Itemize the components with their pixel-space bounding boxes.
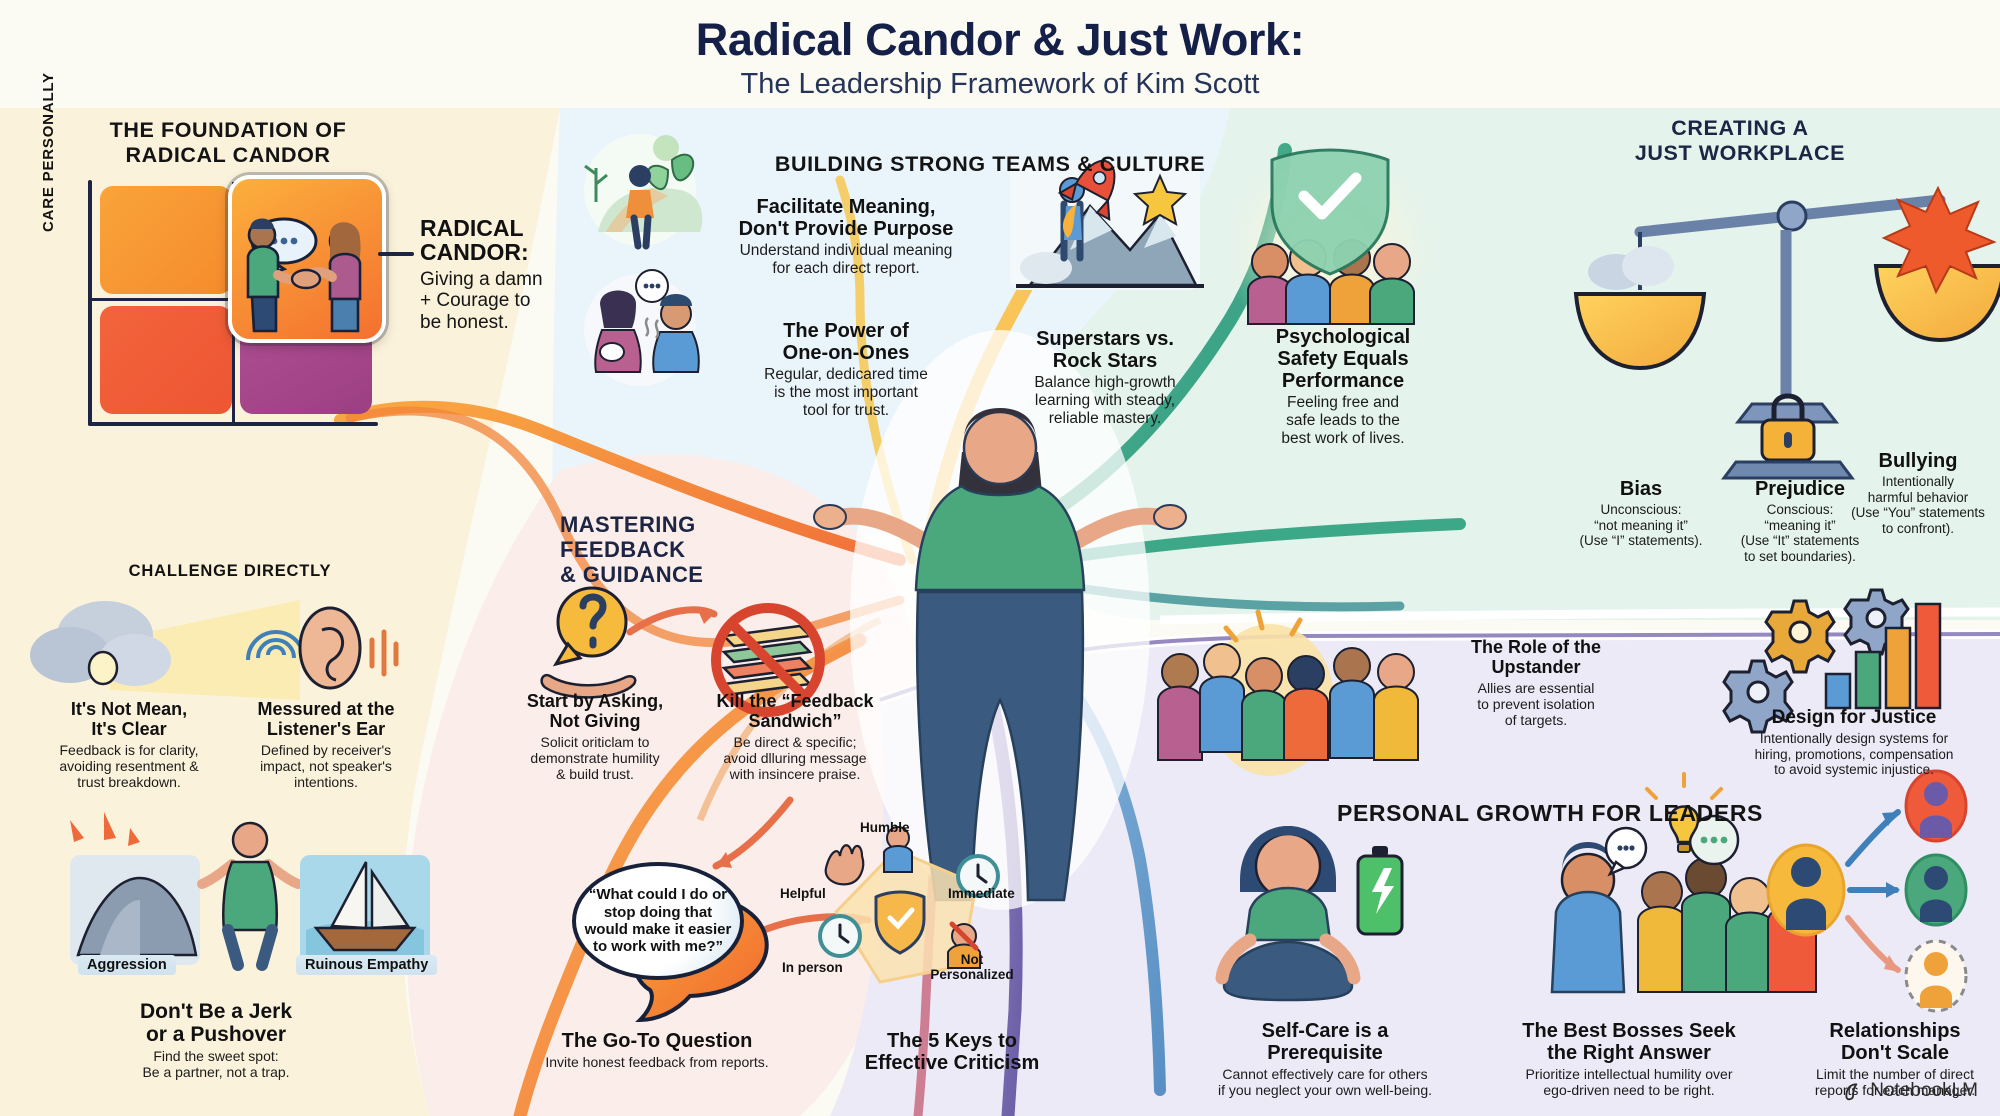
item-self-care[interactable]: Self-Care is a Prerequisite Cannot effec…	[1190, 1020, 1460, 1098]
page-subtitle: The Leadership Framework of Kim Scott	[0, 68, 2000, 101]
item-title: Start by Asking, Not Giving	[500, 692, 690, 732]
item-listeners-ear[interactable]: Messured at the Listener's Ear Defined b…	[226, 700, 426, 790]
brand-name: NotebookLM	[1870, 1080, 1978, 1102]
brand-footer: NotebookLM	[1843, 1080, 1978, 1102]
item-desc: Solicit oriticlam to demonstrate humilit…	[500, 734, 690, 783]
item-desc: Find the sweet spot: Be a partner, not a…	[56, 1048, 376, 1080]
item-its-not-mean[interactable]: It's Not Mean, It's Clear Feedback is fo…	[34, 700, 224, 790]
item-title: The Power of One-on-Ones	[740, 320, 952, 364]
item-title: Bullying	[1828, 450, 2000, 472]
matrix-x-axis	[88, 422, 378, 426]
item-best-bosses[interactable]: The Best Bosses Seek the Right Answer Pr…	[1484, 1020, 1774, 1098]
item-one-on-ones[interactable]: The Power of One-on-Ones Regular, dedica…	[740, 320, 952, 420]
badge-aggression: Aggression	[78, 955, 176, 975]
item-start-by-asking[interactable]: Start by Asking, Not Giving Solicit orit…	[500, 692, 690, 782]
item-desc: Intentionally design systems for hiring,…	[1714, 731, 1994, 778]
key-immediate: Immediate	[948, 886, 1015, 901]
page-title: Radical Candor & Just Work:	[0, 14, 2000, 66]
badge-ruinous-empathy: Ruinous Empathy	[296, 955, 437, 975]
item-title: Design for Justice	[1714, 708, 1994, 729]
section-heading-growth: PERSONAL GROWTH FOR LEADERS	[1160, 800, 1940, 826]
item-go-to-question[interactable]: The Go-To Question Invite honest feedbac…	[512, 1030, 802, 1070]
quadrant-obnoxious-aggression[interactable]	[100, 306, 232, 414]
item-title: Superstars vs. Rock Stars	[1000, 328, 1210, 372]
item-desc: Be direct & specific; avoid dlluring mes…	[690, 734, 900, 783]
item-title: Relationships Don't Scale	[1790, 1020, 2000, 1064]
item-desc: Balance high-growth learning with steady…	[1000, 374, 1210, 428]
matrix-y-axis-label: CARE PERSONALLY	[40, 72, 57, 232]
item-desc: Invite honest feedback from reports.	[512, 1054, 802, 1070]
item-desc: Regular, dedicared time is the most impo…	[740, 366, 952, 420]
notebooklm-logo-icon	[1843, 1081, 1863, 1101]
radical-candor-card[interactable]	[228, 175, 386, 343]
item-title: Messured at the Listener's Ear	[226, 700, 426, 740]
callout-title: RADICAL CANDOR:	[420, 216, 570, 265]
item-superstars-rock-stars[interactable]: Superstars vs. Rock Stars Balance high-g…	[1000, 328, 1210, 428]
quadrant-ruinous-empathy[interactable]	[100, 186, 232, 294]
item-upstander[interactable]: The Role of the Upstander Allies are ess…	[1426, 638, 1646, 728]
item-title: The Go-To Question	[512, 1030, 802, 1052]
item-bullying[interactable]: Bullying Intentionally harmful behavior …	[1828, 450, 2000, 537]
item-title: Psychological Safety Equals Performance	[1238, 326, 1448, 392]
section-heading-foundation: THE FOUNDATION OF RADICAL CANDOR	[58, 118, 398, 167]
item-desc: Allies are essential to prevent isolatio…	[1426, 680, 1646, 729]
radical-candor-callout: RADICAL CANDOR: Giving a damn + Courage …	[420, 216, 570, 334]
item-title: Don't Be a Jerk or a Pushover	[56, 1000, 376, 1046]
item-facilitate-meaning[interactable]: Facilitate Meaning, Don't Provide Purpos…	[716, 196, 976, 278]
callout-connector	[378, 252, 414, 256]
item-design-for-justice[interactable]: Design for Justice Intentionally design …	[1714, 708, 1994, 778]
section-heading-justworkplace: CREATING A JUST WORKPLACE	[1540, 116, 1940, 165]
key-in-person: In person	[782, 960, 843, 975]
key-helpful: Helpful	[780, 886, 826, 901]
item-title: It's Not Mean, It's Clear	[34, 700, 224, 740]
item-five-keys[interactable]: The 5 Keys to Effective Criticism	[832, 1030, 1072, 1074]
section-heading-teams: BUILDING STRONG TEAMS & CULTURE	[740, 152, 1240, 177]
item-title: The Role of the Upstander	[1426, 638, 1646, 678]
item-desc: Prioritize intellectual humility over eg…	[1484, 1066, 1774, 1098]
item-desc: Understand individual meaning for each d…	[716, 242, 976, 278]
key-not-personalized: Not Personalized	[926, 952, 1018, 982]
item-desc: Feeling free and safe leads to the best …	[1238, 394, 1448, 448]
five-keys-labels: Humble Helpful Immediate In person Not P…	[800, 838, 990, 1033]
item-title: Facilitate Meaning, Don't Provide Purpos…	[716, 196, 976, 240]
section-heading-feedback: MASTERING FEEDBACK & GUIDANCE	[560, 512, 790, 587]
item-desc: Intentionally harmful behavior (Use “You…	[1828, 474, 2000, 537]
key-humble: Humble	[860, 820, 910, 835]
item-kill-feedback-sandwich[interactable]: Kill the “Feedback Sandwich” Be direct &…	[690, 692, 900, 782]
callout-desc: Giving a damn + Courage to be honest.	[420, 269, 570, 334]
item-title: Kill the “Feedback Sandwich”	[690, 692, 900, 732]
item-desc: Feedback is for clarity, avoiding resent…	[34, 742, 224, 791]
item-title: The 5 Keys to Effective Criticism	[832, 1030, 1072, 1074]
shield-check-team-icon	[1225, 145, 1435, 355]
item-title: The Best Bosses Seek the Right Answer	[1484, 1020, 1774, 1064]
matrix-x-axis-label: CHALLENGE DIRECTLY	[75, 562, 385, 581]
infographic-canvas: Radical Candor & Just Work: The Leadersh…	[0, 0, 2000, 1116]
item-title: Self-Care is a Prerequisite	[1190, 1020, 1460, 1064]
matrix-y-axis	[88, 180, 92, 426]
go-to-question-quote: “What could I do or stop doing that woul…	[572, 862, 744, 980]
item-dont-be-a-jerk[interactable]: Don't Be a Jerk or a Pushover Find the s…	[56, 1000, 376, 1081]
item-psychological-safety[interactable]: Psychological Safety Equals Performance …	[1238, 326, 1448, 448]
handshake-conversation-icon	[232, 179, 382, 339]
item-desc: Cannot effectively care for others if yo…	[1190, 1066, 1460, 1098]
item-desc: Defined by receiver's impact, not speake…	[226, 742, 426, 791]
